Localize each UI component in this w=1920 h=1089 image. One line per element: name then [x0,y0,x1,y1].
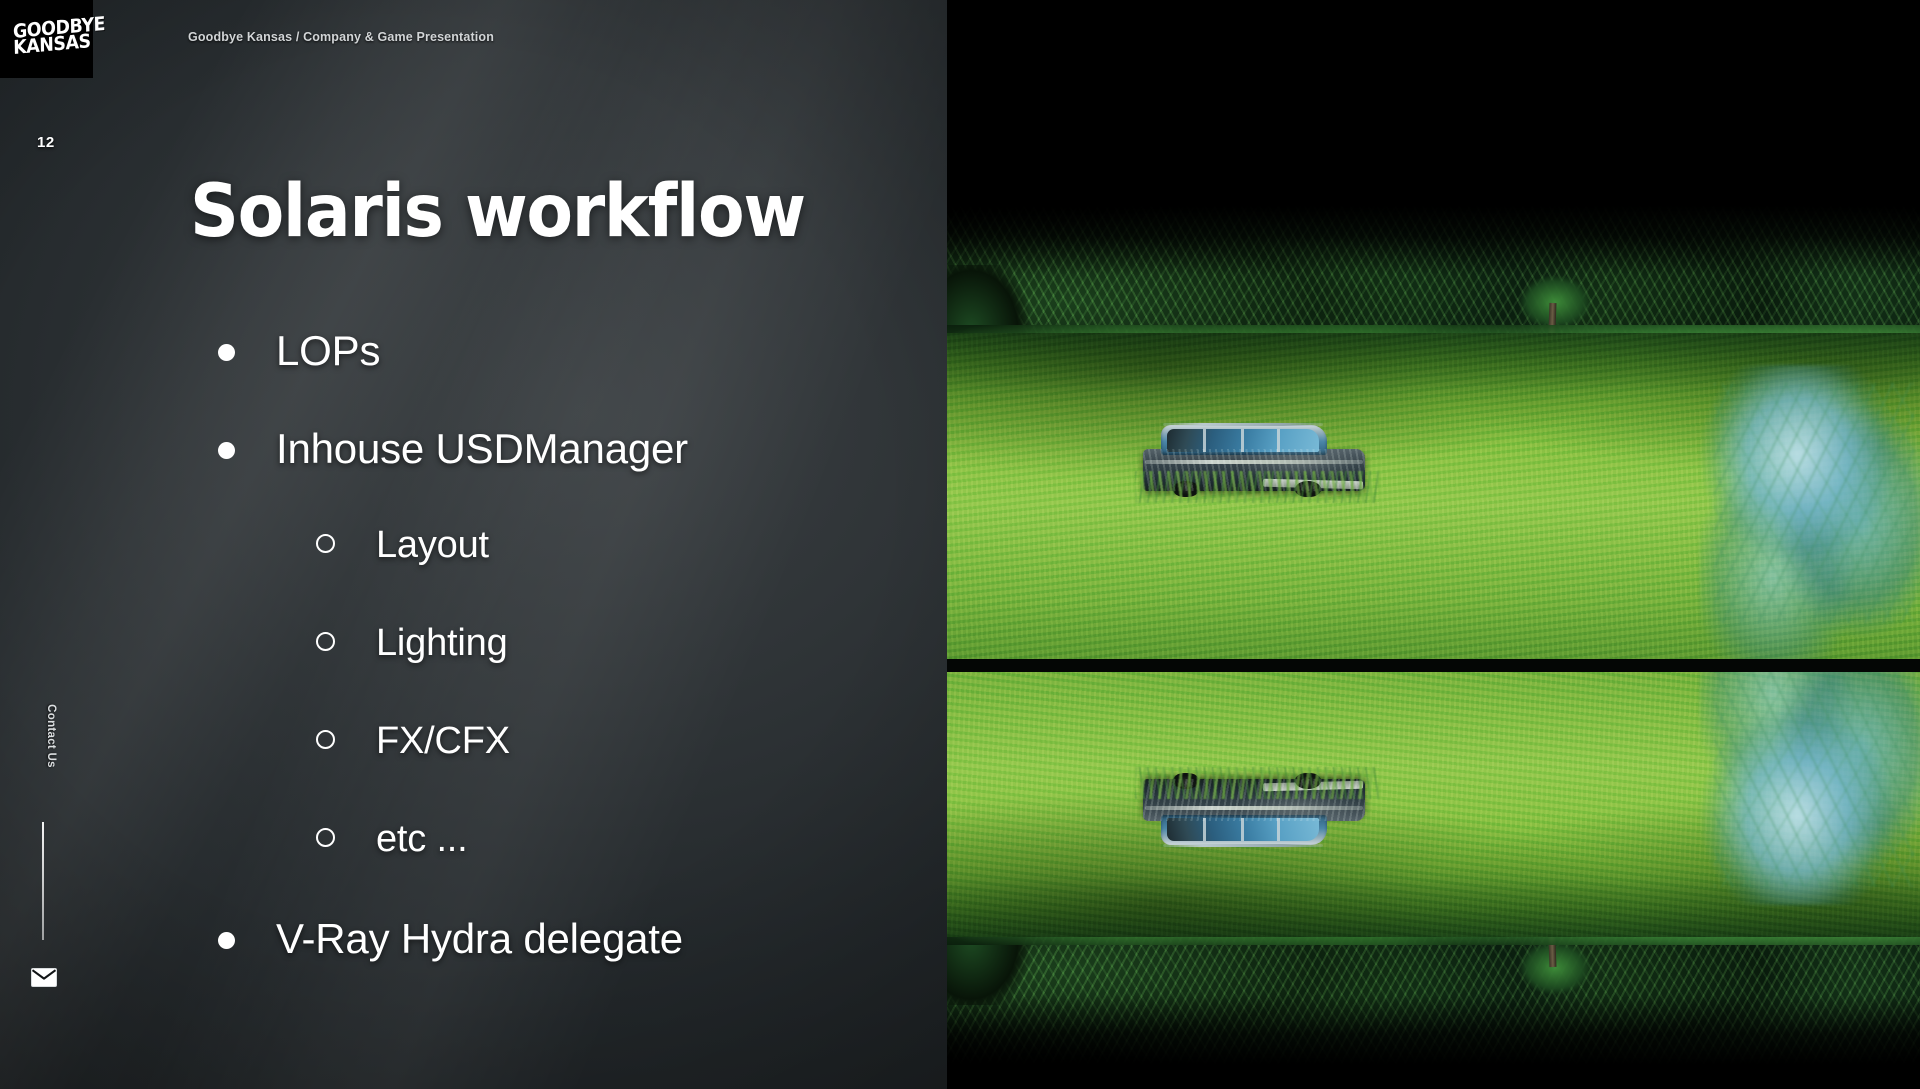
rail-divider-line [42,822,44,940]
slide-bullet-list: LOPsInhouse USDManagerLayoutLightingFX/C… [218,330,918,1016]
bullet-disc-icon [218,932,235,949]
car-roof-rack-reflected [1163,844,1323,847]
bullet-circle-icon [316,828,335,847]
bullet-label: etc ... [376,820,468,858]
bullet-label: Inhouse USDManager [276,428,688,470]
slide-title: Solaris workflow [190,175,805,249]
blue-plant-veins-reflected [1714,672,1914,887]
bullet-label: V-Ray Hydra delegate [276,918,683,960]
logo-wordmark: GOODBYE KANSAS [13,19,81,56]
car-roof-rack [1163,423,1323,426]
render-frame-reflection [947,672,1920,1065]
brand-logo[interactable]: GOODBYE KANSAS [0,0,93,78]
bullet-circle-icon [316,730,335,749]
abandoned-station-wagon [1143,423,1365,499]
bullet-item: LOPs [218,330,918,428]
frame-divider-bar [947,659,1920,672]
bullet-item: Inhouse USDManager [218,428,918,526]
deck-breadcrumb: Goodbye Kansas / Company & Game Presenta… [188,30,494,44]
bullet-disc-icon [218,442,235,459]
bullet-circle-icon [316,632,335,651]
bullet-label: LOPs [276,330,380,372]
presentation-slide: GOODBYE KANSAS Goodbye Kansas / Company … [0,0,1920,1089]
bullet-item: V-Ray Hydra delegate [218,918,918,1016]
car-b-pillar-reflected [1203,818,1206,841]
bullet-item: Lighting [218,624,918,722]
blue-plant-veins [1714,383,1914,623]
render-image-area [947,0,1920,1089]
bullet-item: etc ... [218,820,918,918]
render-frame-top [947,205,1920,660]
bullet-label: FX/CFX [376,722,510,760]
bullet-label: Lighting [376,624,508,662]
foreground-grass-blades [1135,471,1379,503]
car-c-pillar-reflected [1241,818,1244,841]
bullet-label: Layout [376,526,489,564]
canopy-shadow [947,205,1920,275]
envelope-icon[interactable] [31,968,57,987]
letterbox-bar-top [947,0,1920,205]
bullet-circle-icon [316,534,335,553]
car-d-pillar-reflected [1277,818,1280,841]
logo-line-2: KANSAS [13,35,76,56]
canopy-shadow-reflected [947,995,1920,1065]
slide-page-number: 12 [37,134,55,151]
foreground-grass-blades-reflected [1135,767,1379,799]
bullet-item: FX/CFX [218,722,918,820]
abandoned-station-wagon-reflected [1143,771,1365,847]
bullet-item: Layout [218,526,918,624]
contact-us-label: Contact Us [45,691,57,781]
letterbox-bar-bottom [947,1065,1920,1089]
bullet-disc-icon [218,344,235,361]
